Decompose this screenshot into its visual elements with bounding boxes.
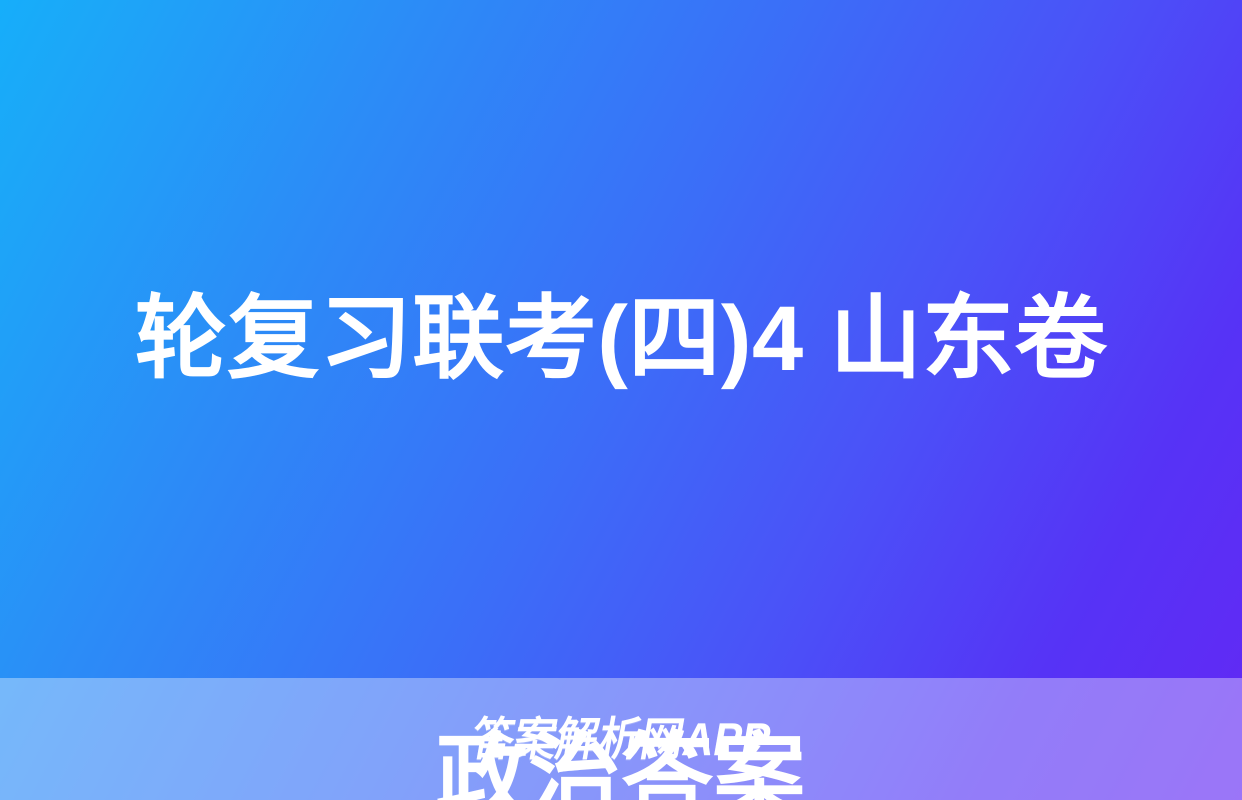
footer-watermark-band: 答案解析网APP — [0, 678, 1242, 800]
hero-section: 百师联盟 2024届高三一 轮复习联考(四)4 山东卷 政治答案 — [0, 0, 1242, 678]
answer-card: 百师联盟 2024届高三一 轮复习联考(四)4 山东卷 政治答案 答案解析网AP… — [0, 0, 1242, 800]
page-title-line-2: 轮复习联考(四)4 山东卷 — [52, 266, 1190, 412]
app-watermark-text: 答案解析网APP — [468, 716, 775, 762]
